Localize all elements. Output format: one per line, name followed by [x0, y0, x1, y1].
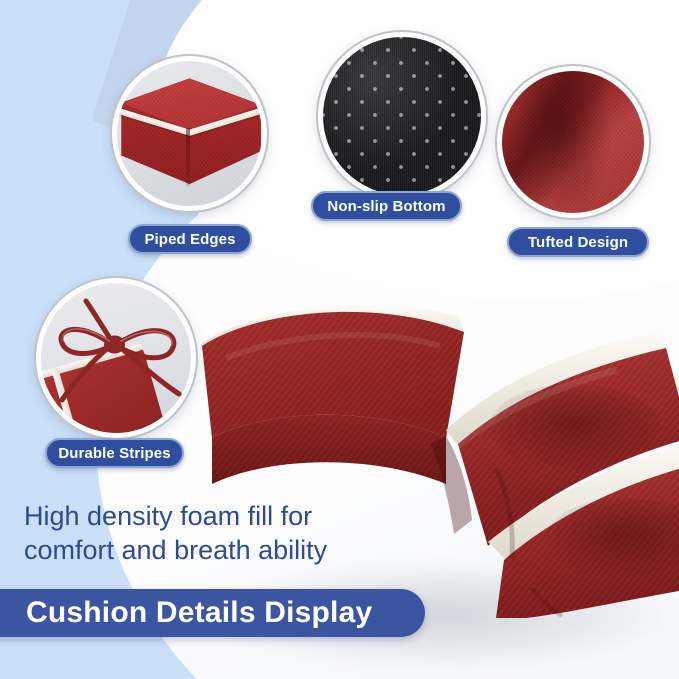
feature-label: Tufted Design	[528, 234, 628, 251]
dotted-grip-icon	[323, 37, 481, 195]
feature-circle-non-slip-bottom	[318, 32, 486, 200]
feature-circle-piped-edges	[112, 56, 267, 211]
feature-label: Durable Stripes	[58, 445, 170, 462]
infographic-canvas: Piped Edges Non-slip Bottom Tufted Desig…	[0, 0, 679, 679]
bottom-banner: Cushion Details Display	[0, 589, 425, 637]
feature-circle-durable-stripes	[36, 278, 196, 438]
tie-strap-bow-icon	[41, 283, 191, 433]
cushion-corner-icon	[117, 61, 262, 206]
banner-title: Cushion Details Display	[26, 596, 372, 630]
feature-label: Piped Edges	[144, 231, 235, 248]
product-image-cushion	[196, 288, 679, 618]
headline: High density foam fill for comfort and b…	[24, 500, 424, 568]
feature-badge-tufted-design[interactable]: Tufted Design	[507, 227, 649, 257]
tufted-fabric-icon	[502, 71, 644, 213]
feature-badge-piped-edges[interactable]: Piped Edges	[128, 224, 252, 254]
feature-label: Non-slip Bottom	[327, 198, 445, 215]
headline-line-2: comfort and breath ability	[24, 534, 424, 568]
feature-badge-durable-stripes[interactable]: Durable Stripes	[45, 438, 184, 468]
feature-circle-tufted-design	[497, 66, 649, 218]
feature-badge-non-slip-bottom[interactable]: Non-slip Bottom	[311, 191, 462, 221]
headline-line-1: High density foam fill for	[24, 500, 424, 534]
